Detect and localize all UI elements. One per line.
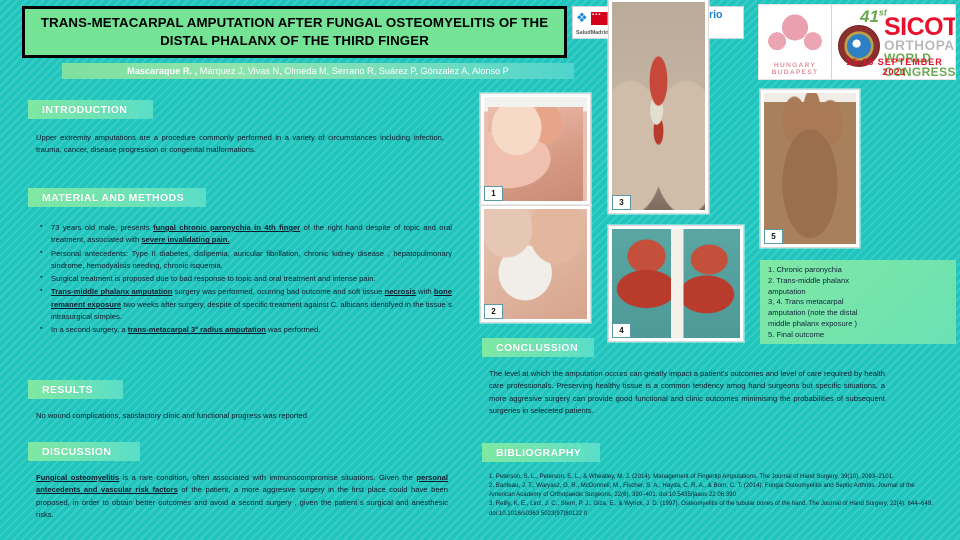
section-header-introduction-label: INTRODUCTION bbox=[28, 104, 127, 116]
discussion-body-1: is a rare condition, often associated wi… bbox=[119, 473, 416, 482]
legend-line: amputation bbox=[768, 287, 948, 298]
section-header-material-methods: MATERIAL AND METHODS bbox=[28, 188, 206, 207]
discussion-emphasis-1: Fungical osteomyelitis bbox=[36, 473, 119, 482]
results-text: No wound complications, satisfactory cli… bbox=[36, 410, 448, 422]
sicot-edition: 41st bbox=[860, 7, 887, 27]
legend-line: 2. Trans-middle phalanx bbox=[768, 276, 948, 287]
legend-line: amputation (note the distal bbox=[768, 308, 948, 319]
legend-line: 3, 4. Trans metacarpal bbox=[768, 297, 948, 308]
photo-3-image bbox=[612, 2, 705, 210]
sicot-dates: 15-18 SEPTEMBER 2021 bbox=[838, 57, 951, 77]
bullet-text: with bbox=[416, 287, 434, 296]
section-header-conclussion: CONCLUSSION bbox=[482, 338, 594, 357]
section-header-discussion: DISCUSSION bbox=[28, 442, 140, 461]
photo-4[interactable]: 4 bbox=[608, 225, 744, 342]
bibliography-entry: 3. Reilly, K. E., Linz, J. C., Stern, P.… bbox=[489, 499, 941, 517]
bibliography-entry: 2. Bariteau, J. T., Waryasz, G. R., McDo… bbox=[489, 481, 941, 499]
sicot-congress-logo: HUNGARY BUDAPEST 41st SICOT ORTHOPAEDIC … bbox=[758, 4, 956, 80]
photo-3-number: 3 bbox=[612, 195, 631, 210]
photo-3[interactable]: 3 bbox=[608, 0, 709, 214]
poster-canvas: TRANS-METACARPAL AMPUTATION AFTER FUNGAL… bbox=[0, 0, 960, 540]
photo-2[interactable]: 2 bbox=[480, 205, 591, 323]
section-header-conclussion-label: CONCLUSSION bbox=[482, 342, 578, 354]
salud-figure-icon: ❖ bbox=[576, 11, 588, 24]
list-item: Trans-middle phalanx amputation surgery … bbox=[40, 286, 452, 323]
madrid-flag-icon: ▪▪▪ bbox=[591, 12, 608, 25]
photo-2-number: 2 bbox=[484, 304, 503, 319]
bibliography-list: 1. Peterson, S. L., Peterson, E. L., & W… bbox=[489, 472, 941, 518]
section-header-results-label: RESULTS bbox=[28, 384, 93, 396]
salud-madrid-wordmark: SaludMadrid bbox=[576, 30, 608, 36]
photo-1[interactable]: 1 bbox=[480, 93, 591, 205]
sicot-country: HUNGARY bbox=[774, 62, 816, 69]
list-item: Surgical treatment is proposed due to ba… bbox=[40, 273, 452, 285]
photo-5-number: 5 bbox=[764, 229, 783, 244]
legend-line: 5. Final outcome bbox=[768, 330, 948, 341]
photo-5[interactable]: 5 bbox=[760, 89, 860, 248]
bullet-text: Surgical treatment is proposed due to ba… bbox=[51, 274, 376, 283]
author-bar: Mascaraque R. , Márquez J, Vivas N, Olme… bbox=[62, 63, 574, 79]
bullet-text: Personal antecedents: Type II diabetes, … bbox=[51, 249, 452, 270]
list-item: In a second surgery, a trans-metacarpal … bbox=[40, 324, 452, 336]
photo-1-number: 1 bbox=[484, 186, 503, 201]
bullet-text: In a second surgery, a bbox=[51, 325, 128, 334]
suture-line-icon bbox=[803, 138, 814, 222]
bullet-text: was performed. bbox=[266, 325, 320, 334]
sicot-edition-number: 41 bbox=[860, 7, 879, 26]
photo-5-image bbox=[764, 93, 856, 244]
section-header-results: RESULTS bbox=[28, 380, 123, 399]
sicot-city: BUDAPEST bbox=[772, 69, 819, 76]
basilica-icon bbox=[763, 9, 827, 55]
bullet-emphasis: Trans-middle phalanx amputation bbox=[51, 287, 172, 296]
section-header-bibliography: BIBLIOGRAPHY bbox=[482, 443, 600, 462]
bullet-text: 73 years old male, presents bbox=[51, 223, 153, 232]
introduction-text: Upper extremity amputations are a proced… bbox=[36, 132, 444, 157]
author-lead: Mascaraque R. , bbox=[127, 66, 197, 76]
material-methods-list: 73 years old male, presents fungal chron… bbox=[40, 222, 452, 338]
photo-4-number: 4 bbox=[612, 323, 631, 338]
discussion-text: Fungical osteomyelitis is a rare conditi… bbox=[36, 472, 448, 521]
conclussion-text: The level at which the amputation occurs… bbox=[489, 368, 885, 417]
poster-title-box: TRANS-METACARPAL AMPUTATION AFTER FUNGAL… bbox=[22, 6, 567, 58]
salud-madrid-icon: ❖ ▪▪▪ SaludMadrid bbox=[576, 10, 610, 36]
page-title: TRANS-METACARPAL AMPUTATION AFTER FUNGAL… bbox=[25, 14, 564, 50]
salud-text: Salud bbox=[576, 30, 591, 36]
material-methods-bullets: 73 years old male, presents fungal chron… bbox=[40, 222, 452, 337]
section-header-introduction: INTRODUCTION bbox=[28, 100, 153, 119]
section-header-discussion-label: DISCUSSION bbox=[28, 446, 111, 458]
sicot-logo-right: 41st SICOT ORTHOPAEDIC WORLD CONGRESS 15… bbox=[832, 5, 955, 79]
photo-legend: 1. Chronic paronychia 2. Trans-middle ph… bbox=[760, 260, 956, 344]
legend-line: 1. Chronic paronychia bbox=[768, 265, 948, 276]
photo-2-image bbox=[484, 209, 587, 319]
bullet-emphasis: necrosis bbox=[385, 287, 416, 296]
section-header-material-methods-label: MATERIAL AND METHODS bbox=[28, 192, 184, 204]
section-header-bibliography-label: BIBLIOGRAPHY bbox=[482, 447, 581, 459]
bullet-text: surgery was performed, ocurring bad outc… bbox=[172, 287, 384, 296]
legend-line: middle phalanx exposure ) bbox=[768, 319, 948, 330]
bullet-emphasis: fungal chronic paronychia in 4th finger bbox=[153, 223, 300, 232]
list-item: 73 years old male, presents fungal chron… bbox=[40, 222, 452, 247]
madrid-text: Madrid bbox=[591, 30, 609, 36]
bullet-emphasis: trans-metacarpal 3º radius amputation bbox=[128, 325, 266, 334]
photo-4-image bbox=[612, 229, 740, 338]
author-list: Mascaraque R. , Márquez J, Vivas N, Olme… bbox=[127, 66, 509, 76]
list-item: Personal antecedents: Type II diabetes, … bbox=[40, 248, 452, 273]
budapest-landmark-icon: HUNGARY BUDAPEST bbox=[759, 5, 832, 79]
bibliography-entry: 1. Peterson, S. L., Peterson, E. L., & W… bbox=[489, 472, 941, 481]
bullet-emphasis: severe invalidating pain. bbox=[141, 235, 229, 244]
author-rest: Márquez J, Vivas N, Olmeda M, Serrano R,… bbox=[197, 66, 509, 76]
